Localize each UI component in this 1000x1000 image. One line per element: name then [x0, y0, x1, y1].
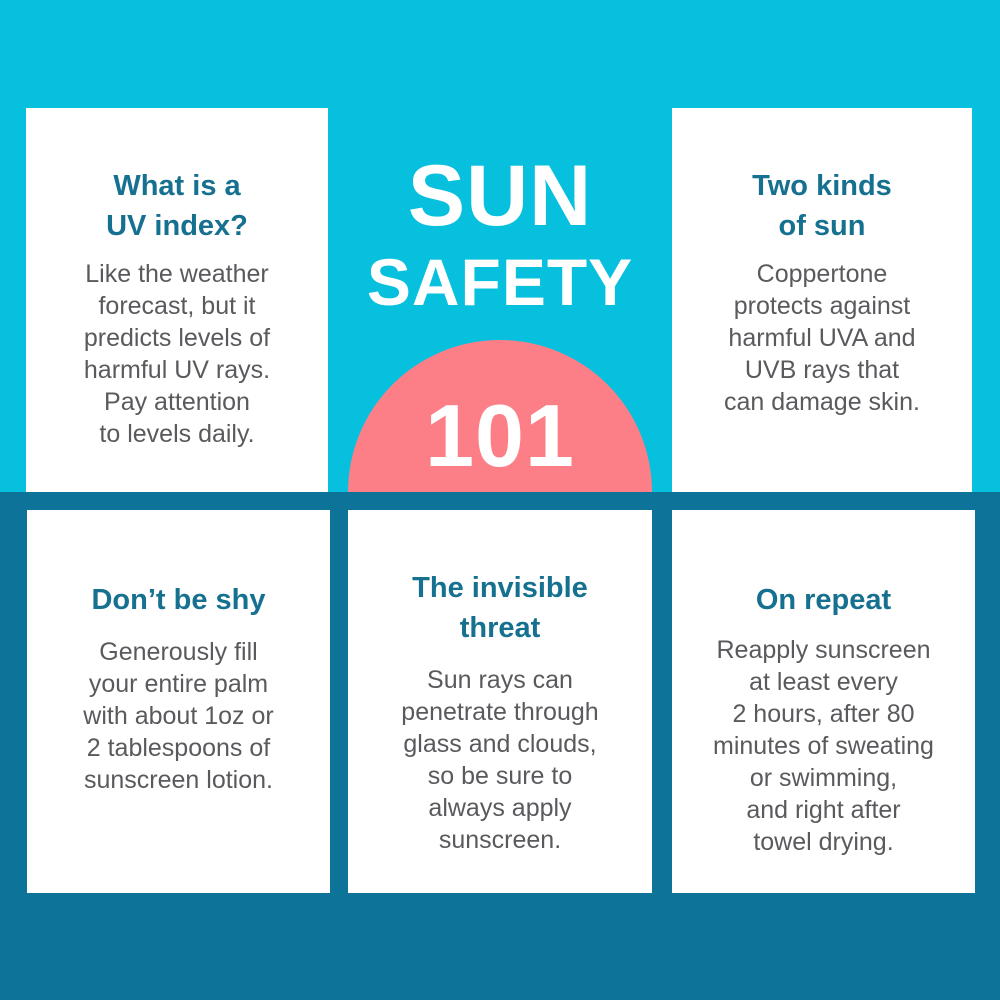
sun-safety-infographic: SUN SAFETY 101 What is a UV index? Like …	[0, 0, 1000, 1000]
card-uv-index-body: Like the weather forecast, but it predic…	[78, 258, 276, 450]
card-dont-be-shy-body: Generously fill your entire palm with ab…	[77, 636, 279, 796]
logo-title-safety: SAFETY	[348, 246, 652, 318]
card-uv-index-title: What is a UV index?	[96, 166, 258, 246]
card-on-repeat-body: Reapply sunscreen at least every 2 hours…	[707, 634, 940, 858]
card-on-repeat: On repeat Reapply sunscreen at least eve…	[672, 510, 975, 893]
card-two-kinds-of-sun: Two kinds of sun Coppertone protects aga…	[672, 108, 972, 492]
card-invisible-threat-title: The invisible threat	[402, 568, 598, 648]
card-uv-index: What is a UV index? Like the weather for…	[26, 108, 328, 492]
card-dont-be-shy-title: Don’t be shy	[81, 580, 275, 620]
card-two-kinds-of-sun-body: Coppertone protects against harmful UVA …	[718, 258, 926, 418]
card-invisible-threat-body: Sun rays can penetrate through glass and…	[395, 664, 604, 856]
logo-badge-101: 101	[348, 388, 652, 484]
card-invisible-threat: The invisible threat Sun rays can penetr…	[348, 510, 652, 893]
logo-title-sun: SUN	[348, 150, 652, 242]
card-dont-be-shy: Don’t be shy Generously fill your entire…	[27, 510, 330, 893]
card-two-kinds-of-sun-title: Two kinds of sun	[742, 166, 902, 246]
card-on-repeat-title: On repeat	[746, 580, 901, 620]
sun-safety-logo: SUN SAFETY 101	[348, 150, 652, 492]
